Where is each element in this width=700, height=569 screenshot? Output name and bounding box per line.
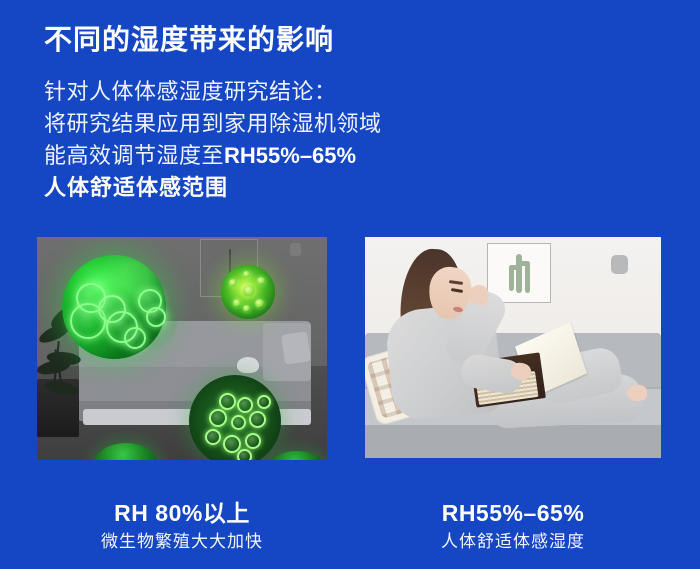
humidity-infographic-poster: 不同的湿度带来的影响 针对人体体感湿度研究结论： 将研究结果应用到家用除湿机领域…: [0, 0, 700, 569]
microbe-spike: [255, 299, 264, 308]
comfort-humidity-caption-title: RH55%–65%: [365, 498, 661, 528]
humidity-range-highlight: RH55%–65%: [224, 143, 356, 168]
intro-line-2: 将研究结果应用到家用除湿机领域: [44, 108, 524, 140]
microbe-ring: [209, 409, 227, 427]
microbe-ring: [249, 411, 266, 428]
woman-foot: [627, 385, 647, 401]
microbe-spike: [243, 305, 250, 312]
high-humidity-photo: [37, 237, 327, 460]
microbe-sphere-large: [62, 255, 166, 359]
page-title: 不同的湿度带来的影响: [44, 20, 334, 60]
microbe-bubble: [146, 307, 166, 327]
intro-line-4: 人体舒适体感范围: [44, 172, 524, 204]
microbe-spike: [233, 299, 241, 307]
wall-speaker-icon: [290, 243, 301, 256]
dark-sofa-pillow: [237, 357, 259, 373]
microbe-ring: [231, 415, 246, 430]
high-humidity-caption-sub: 微生物繁殖大大加快: [37, 528, 327, 556]
microbe-sphere-small-top: [221, 265, 275, 319]
bright-room-scene: [365, 237, 661, 458]
microbe-spike: [229, 279, 237, 287]
microbe-spike: [243, 285, 255, 297]
microbe-ring: [205, 429, 221, 445]
intro-line-1: 针对人体体感湿度研究结论：: [44, 76, 524, 108]
microbe-ring: [237, 397, 253, 413]
microbe-ring: [219, 393, 236, 410]
microbe-spike: [257, 277, 265, 285]
high-humidity-caption: RH 80%以上 微生物繁殖大大加快: [37, 498, 327, 556]
intro-line-3-prefix: 能高效调节湿度至: [44, 143, 224, 168]
comfort-humidity-caption-sub: 人体舒适体感湿度: [365, 528, 661, 556]
light-sofa-base: [365, 425, 661, 458]
cactus-arm-right: [525, 261, 530, 293]
cactus-trunk: [516, 254, 522, 292]
dark-sofa-cushion: [281, 331, 311, 364]
dark-room-scene: [37, 237, 327, 460]
microbe-sphere-bottom: [189, 375, 281, 460]
microbe-bubble: [124, 327, 146, 349]
wall-speaker-icon: [611, 255, 628, 274]
microbe-ring: [245, 433, 261, 449]
microbe-spike: [243, 271, 250, 278]
intro-paragraph: 针对人体体感湿度研究结论： 将研究结果应用到家用除湿机领域 能高效调节湿度至RH…: [44, 76, 524, 204]
microbe-ring: [237, 449, 252, 460]
cactus-arm-left: [509, 265, 514, 291]
comfort-humidity-caption: RH55%–65% 人体舒适体感湿度: [365, 498, 661, 556]
microbe-ring: [257, 395, 271, 409]
intro-line-3: 能高效调节湿度至RH55%–65%: [44, 140, 524, 172]
comfort-humidity-photo: [365, 237, 661, 458]
high-humidity-caption-title: RH 80%以上: [37, 498, 327, 528]
